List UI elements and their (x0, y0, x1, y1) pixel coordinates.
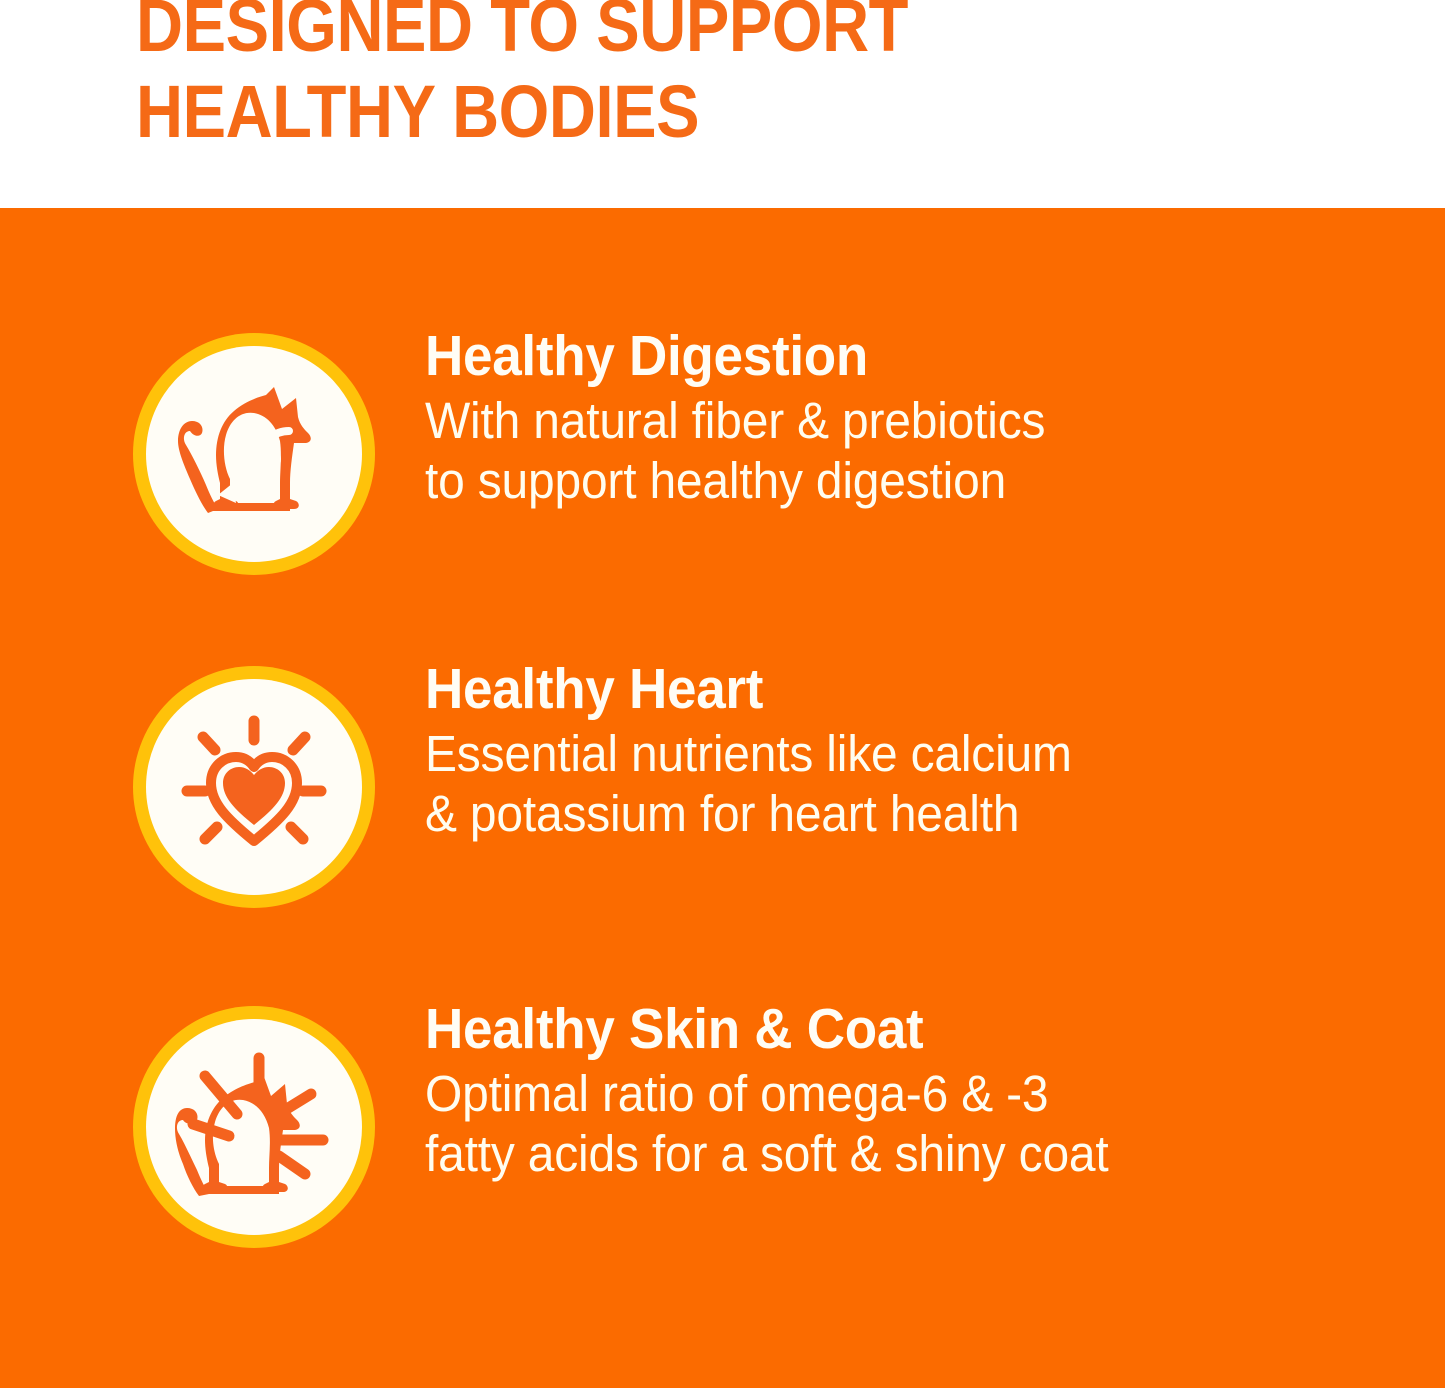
feature-text-block: Healthy Digestion With natural fiber & p… (425, 325, 1385, 511)
badge-inner-circle (146, 1019, 362, 1235)
feature-text-block: Healthy Skin & Coat Optimal ratio of ome… (425, 998, 1385, 1184)
feature-description: With natural fiber & prebiotics to suppo… (425, 391, 1327, 511)
feature-title: Healthy Skin & Coat (425, 998, 1318, 1060)
shiny-cat-icon (175, 1052, 333, 1202)
feature-row: Healthy Skin & Coat Optimal ratio of ome… (0, 998, 1445, 1298)
header-band: DESIGNED TO SUPPORT HEALTHY BODIES (0, 0, 1445, 208)
cat-digestion-icon (178, 379, 330, 529)
page-title: DESIGNED TO SUPPORT HEALTHY BODIES (136, 0, 1192, 155)
feature-badge-digestion (133, 333, 375, 575)
badge-inner-circle (146, 346, 362, 562)
feature-description: Essential nutrients like calcium & potas… (425, 724, 1327, 844)
feature-description: Optimal ratio of omega-6 & -3 fatty acid… (425, 1064, 1327, 1184)
feature-badge-heart (133, 666, 375, 908)
badge-inner-circle (146, 679, 362, 895)
feature-badge-skin-coat (133, 1006, 375, 1248)
feature-row: Healthy Digestion With natural fiber & p… (0, 325, 1445, 625)
feature-title: Healthy Heart (425, 658, 1318, 720)
features-panel: Healthy Digestion With natural fiber & p… (0, 208, 1445, 1388)
feature-row: Healthy Heart Essential nutrients like c… (0, 658, 1445, 958)
radiating-heart-icon (179, 715, 329, 859)
feature-title: Healthy Digestion (425, 325, 1318, 387)
product-feature-panel: DESIGNED TO SUPPORT HEALTHY BODIES (0, 0, 1445, 1388)
feature-text-block: Healthy Heart Essential nutrients like c… (425, 658, 1385, 844)
